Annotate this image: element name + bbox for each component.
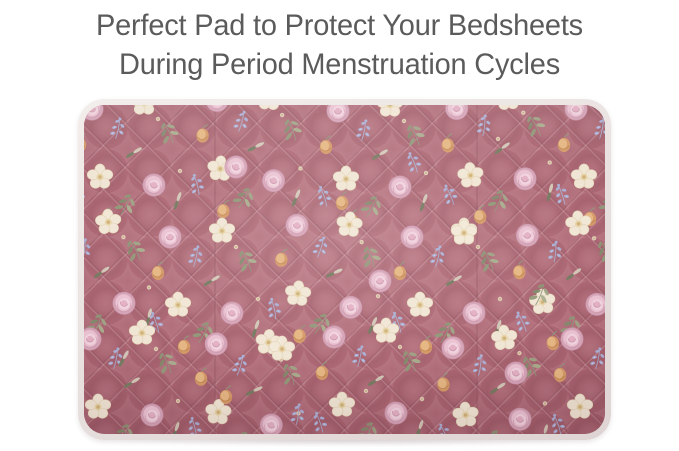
product-image <box>0 86 679 451</box>
quilted-floral-pad <box>78 99 611 440</box>
pad-fabric-face <box>84 105 605 434</box>
fabric-sheen <box>84 105 605 434</box>
page-title-line-2: During Period Menstruation Cycles <box>12 45 667 84</box>
page-title: Perfect Pad to Protect Your Bedsheets Du… <box>0 0 679 84</box>
page-title-line-1: Perfect Pad to Protect Your Bedsheets <box>12 6 667 45</box>
